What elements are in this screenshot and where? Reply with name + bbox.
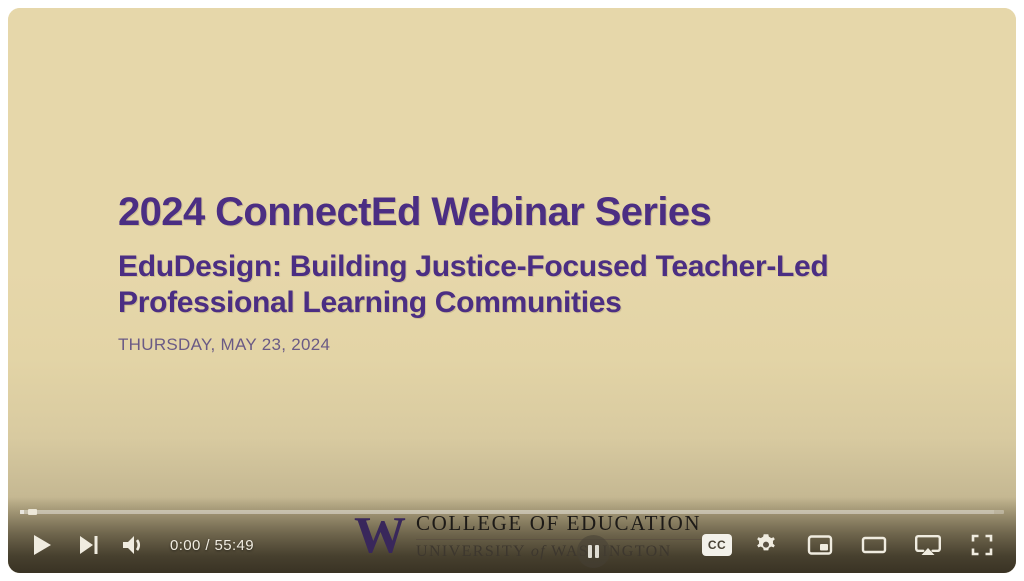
theater-mode-button[interactable] — [854, 525, 894, 565]
player-controls: 0:00 / 55:49 CC — [8, 517, 1016, 573]
player-controls-left: 0:00 / 55:49 — [22, 525, 260, 565]
picture-in-picture-button[interactable] — [800, 525, 840, 565]
player-controls-right: CC — [702, 525, 1002, 565]
volume-button[interactable] — [114, 525, 154, 565]
picture-in-picture-icon — [807, 534, 833, 556]
next-track-icon — [77, 533, 99, 557]
theater-mode-icon — [861, 534, 887, 556]
fullscreen-button[interactable] — [962, 525, 1002, 565]
slide-date: THURSDAY, MAY 23, 2024 — [118, 335, 908, 355]
play-icon — [31, 533, 53, 557]
progress-bar[interactable] — [20, 509, 1004, 515]
cast-button[interactable] — [908, 525, 948, 565]
time-display: 0:00 / 55:49 — [170, 537, 254, 554]
progress-scrubber-handle[interactable] — [28, 509, 37, 515]
volume-icon — [121, 533, 147, 557]
fullscreen-icon — [970, 533, 994, 557]
video-player[interactable]: 2024 ConnectEd Webinar Series EduDesign:… — [8, 8, 1016, 573]
airplay-icon — [914, 533, 942, 557]
gear-icon — [753, 532, 779, 558]
slide-subtitle: EduDesign: Building Justice-Focused Teac… — [118, 249, 908, 321]
progress-buffered — [20, 510, 994, 514]
captions-button[interactable]: CC — [702, 534, 732, 556]
slide-content: 2024 ConnectEd Webinar Series EduDesign:… — [118, 191, 908, 355]
settings-button[interactable] — [746, 525, 786, 565]
slide-title: 2024 ConnectEd Webinar Series — [118, 191, 908, 233]
next-track-button[interactable] — [68, 525, 108, 565]
play-button[interactable] — [22, 525, 62, 565]
progress-played — [20, 510, 24, 514]
